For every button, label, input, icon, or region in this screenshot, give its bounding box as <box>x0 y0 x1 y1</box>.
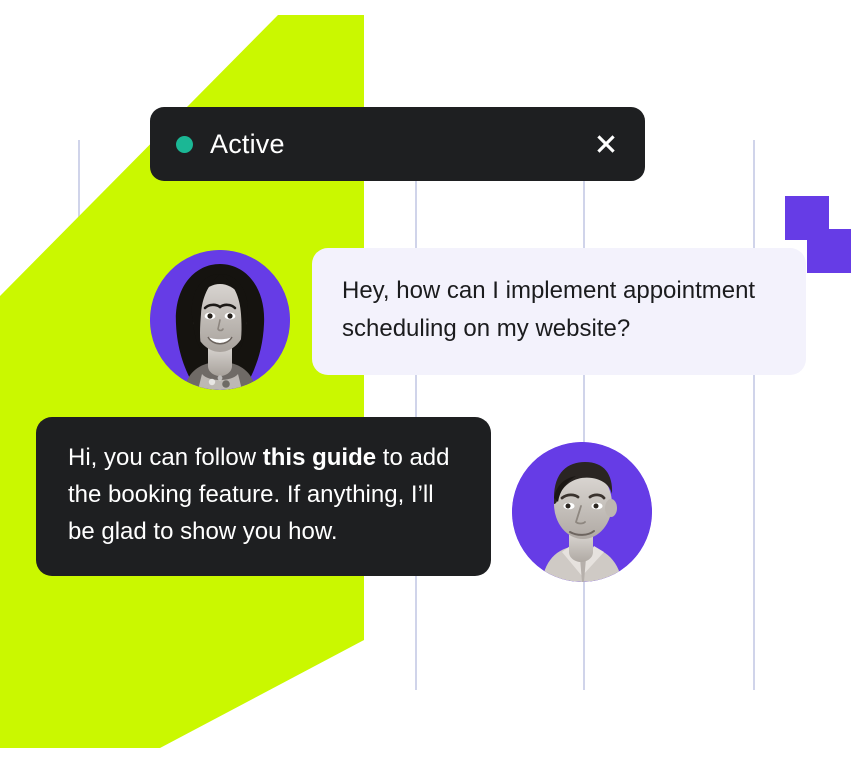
message-text-incoming: Hey, how can I implement appointment sch… <box>342 277 755 342</box>
message-link-this-guide[interactable]: this guide <box>263 444 376 471</box>
grid-line-4 <box>583 140 585 690</box>
message-bubble-outgoing: Hi, you can follow this guide to add the… <box>36 417 491 576</box>
status-online-dot <box>176 136 193 153</box>
decor-square-lower <box>807 229 851 273</box>
customer-avatar <box>512 442 652 582</box>
grid-line-3 <box>415 140 417 690</box>
grid-line-5 <box>753 140 755 690</box>
message-bubble-incoming: Hey, how can I implement appointment sch… <box>312 248 806 375</box>
close-icon[interactable] <box>591 129 621 159</box>
status-label: Active <box>210 131 591 158</box>
agent-avatar <box>150 250 290 390</box>
message-text-outgoing-prefix: Hi, you can follow <box>68 444 263 471</box>
chat-status-bar: Active <box>150 107 645 181</box>
chat-widget-illustration: Active <box>0 0 851 768</box>
